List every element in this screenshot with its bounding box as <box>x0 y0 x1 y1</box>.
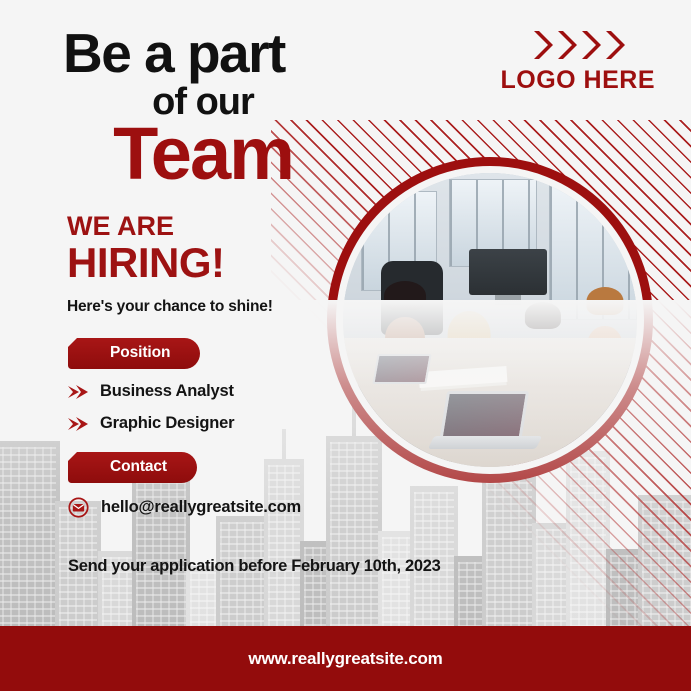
logo-chevrons <box>500 30 655 60</box>
chevron-right-icon <box>555 30 577 60</box>
application-deadline: Send your application before February 10… <box>68 557 441 576</box>
contact-section: Contact hello@reallygreatsite.com <box>68 452 301 518</box>
hiring-line-1: WE ARE <box>67 212 273 240</box>
chevron-right-icon <box>579 30 601 60</box>
contact-email-row[interactable]: hello@reallygreatsite.com <box>68 497 301 518</box>
list-item[interactable]: Graphic Designer <box>68 414 234 433</box>
headline: Be a part of our Team <box>63 26 343 189</box>
chevron-right-icon <box>603 30 625 60</box>
arrow-right-icon <box>68 416 88 432</box>
arrow-right-icon <box>68 384 88 400</box>
job-list: Business Analyst Graphic Designer <box>68 382 234 433</box>
position-section: Position Business Analyst Graphic Design… <box>68 338 234 446</box>
contact-email: hello@reallygreatsite.com <box>101 498 301 517</box>
job-title: Graphic Designer <box>100 414 234 433</box>
chevron-right-icon <box>531 30 553 60</box>
hiring-block: WE ARE HIRING! Here's your chance to shi… <box>67 212 273 316</box>
headline-line-3: Team <box>63 119 343 189</box>
hiring-line-2: HIRING! <box>67 241 273 285</box>
envelope-icon <box>68 497 89 518</box>
contact-badge: Contact <box>68 452 197 483</box>
footer-bar: www.reallygreatsite.com <box>0 626 691 691</box>
footer-website[interactable]: www.reallygreatsite.com <box>248 649 442 669</box>
position-badge: Position <box>68 338 200 369</box>
recruitment-poster: LOGO HERE Be a part of our Team WE ARE H… <box>0 0 691 691</box>
logo: LOGO HERE <box>500 30 655 95</box>
hiring-tagline: Here's your chance to shine! <box>67 298 273 316</box>
logo-text: LOGO HERE <box>500 66 655 95</box>
headline-line-1: Be a part <box>63 26 343 81</box>
job-title: Business Analyst <box>100 382 234 401</box>
list-item[interactable]: Business Analyst <box>68 382 234 401</box>
